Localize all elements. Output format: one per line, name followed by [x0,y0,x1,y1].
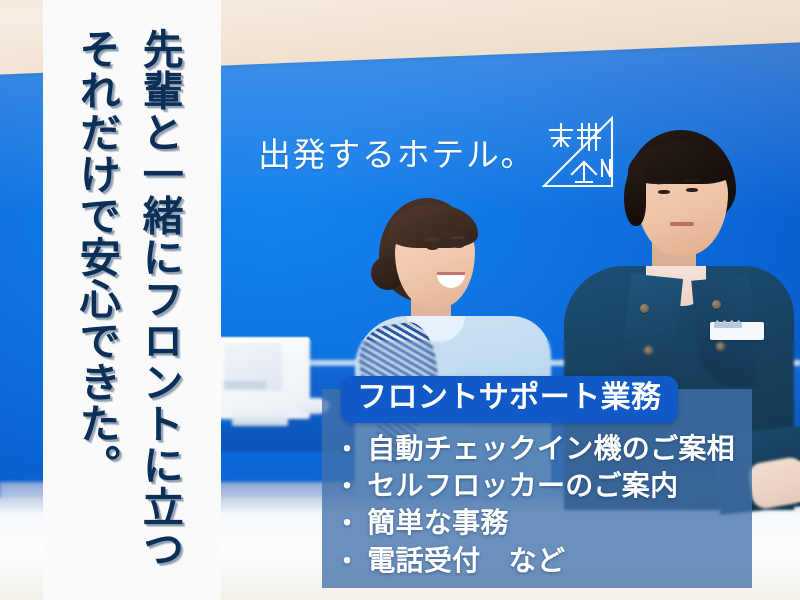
bullet-icon: ・ [334,474,360,500]
bullet-icon: ・ [334,511,360,537]
wall-sign-katakana: ホテル。 [397,136,536,173]
headline-line-1: 先輩と一緒にフロントに立つ [138,28,180,569]
wall-sign-kanji: 出発する [258,136,397,173]
list-item: ・ 簡単な事務 [334,504,754,541]
job-duties-list: ・ 自動チェックイン機のご案相 ・ セルフロッカーのご案内 ・ 簡単な事務 ・ … [334,430,754,579]
job-duties-title-badge: フロントサポート業務 [341,376,678,423]
list-item: ・ 自動チェックイン機のご案相 [334,430,754,467]
bullet-icon: ・ [334,549,360,575]
bullet-icon: ・ [334,437,360,463]
headline-white-band [43,0,221,600]
list-item-label: セルフロッカーのご案内 [367,467,678,504]
list-item-label: 電話受付 など [367,542,565,579]
list-item: ・ 電話受付 など [334,542,754,579]
wall-sign-text: 出発するホテル。 [258,128,535,176]
list-item: ・ セルフロッカーのご案内 [334,467,754,504]
headline-line-2: それだけで安心できた。 [75,28,117,486]
list-item-label: 自動チェックイン機のご案相 [367,430,735,467]
list-item-label: 簡単な事務 [367,504,508,541]
recruitment-banner: 出発するホテル。 [0,0,800,600]
